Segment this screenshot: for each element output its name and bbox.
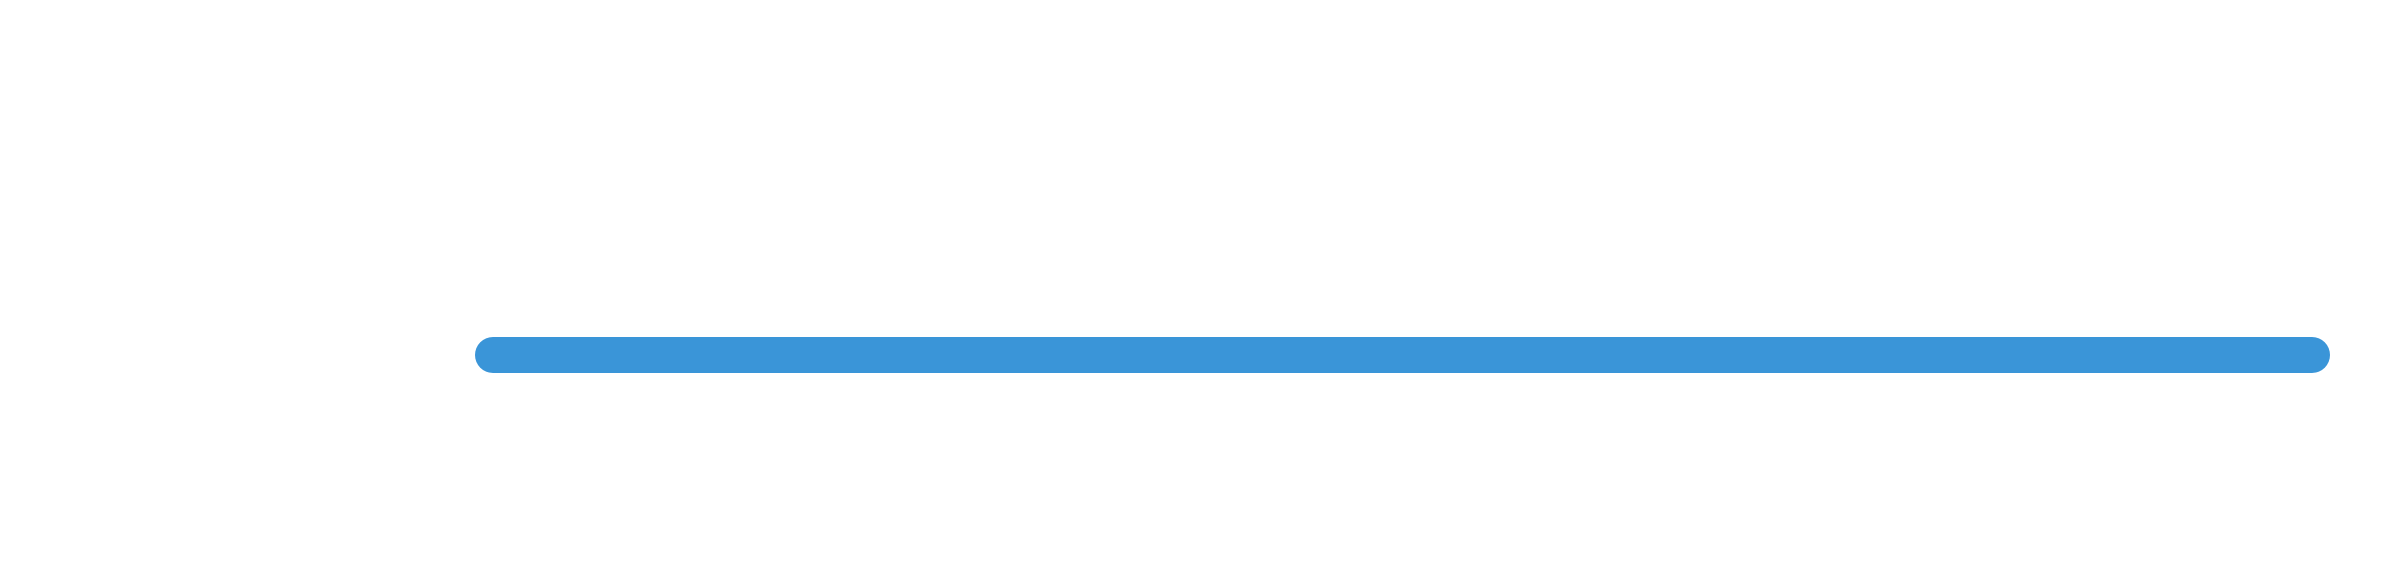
species-columns bbox=[0, 0, 2400, 580]
phylostratigraphy-figure bbox=[0, 0, 2400, 580]
